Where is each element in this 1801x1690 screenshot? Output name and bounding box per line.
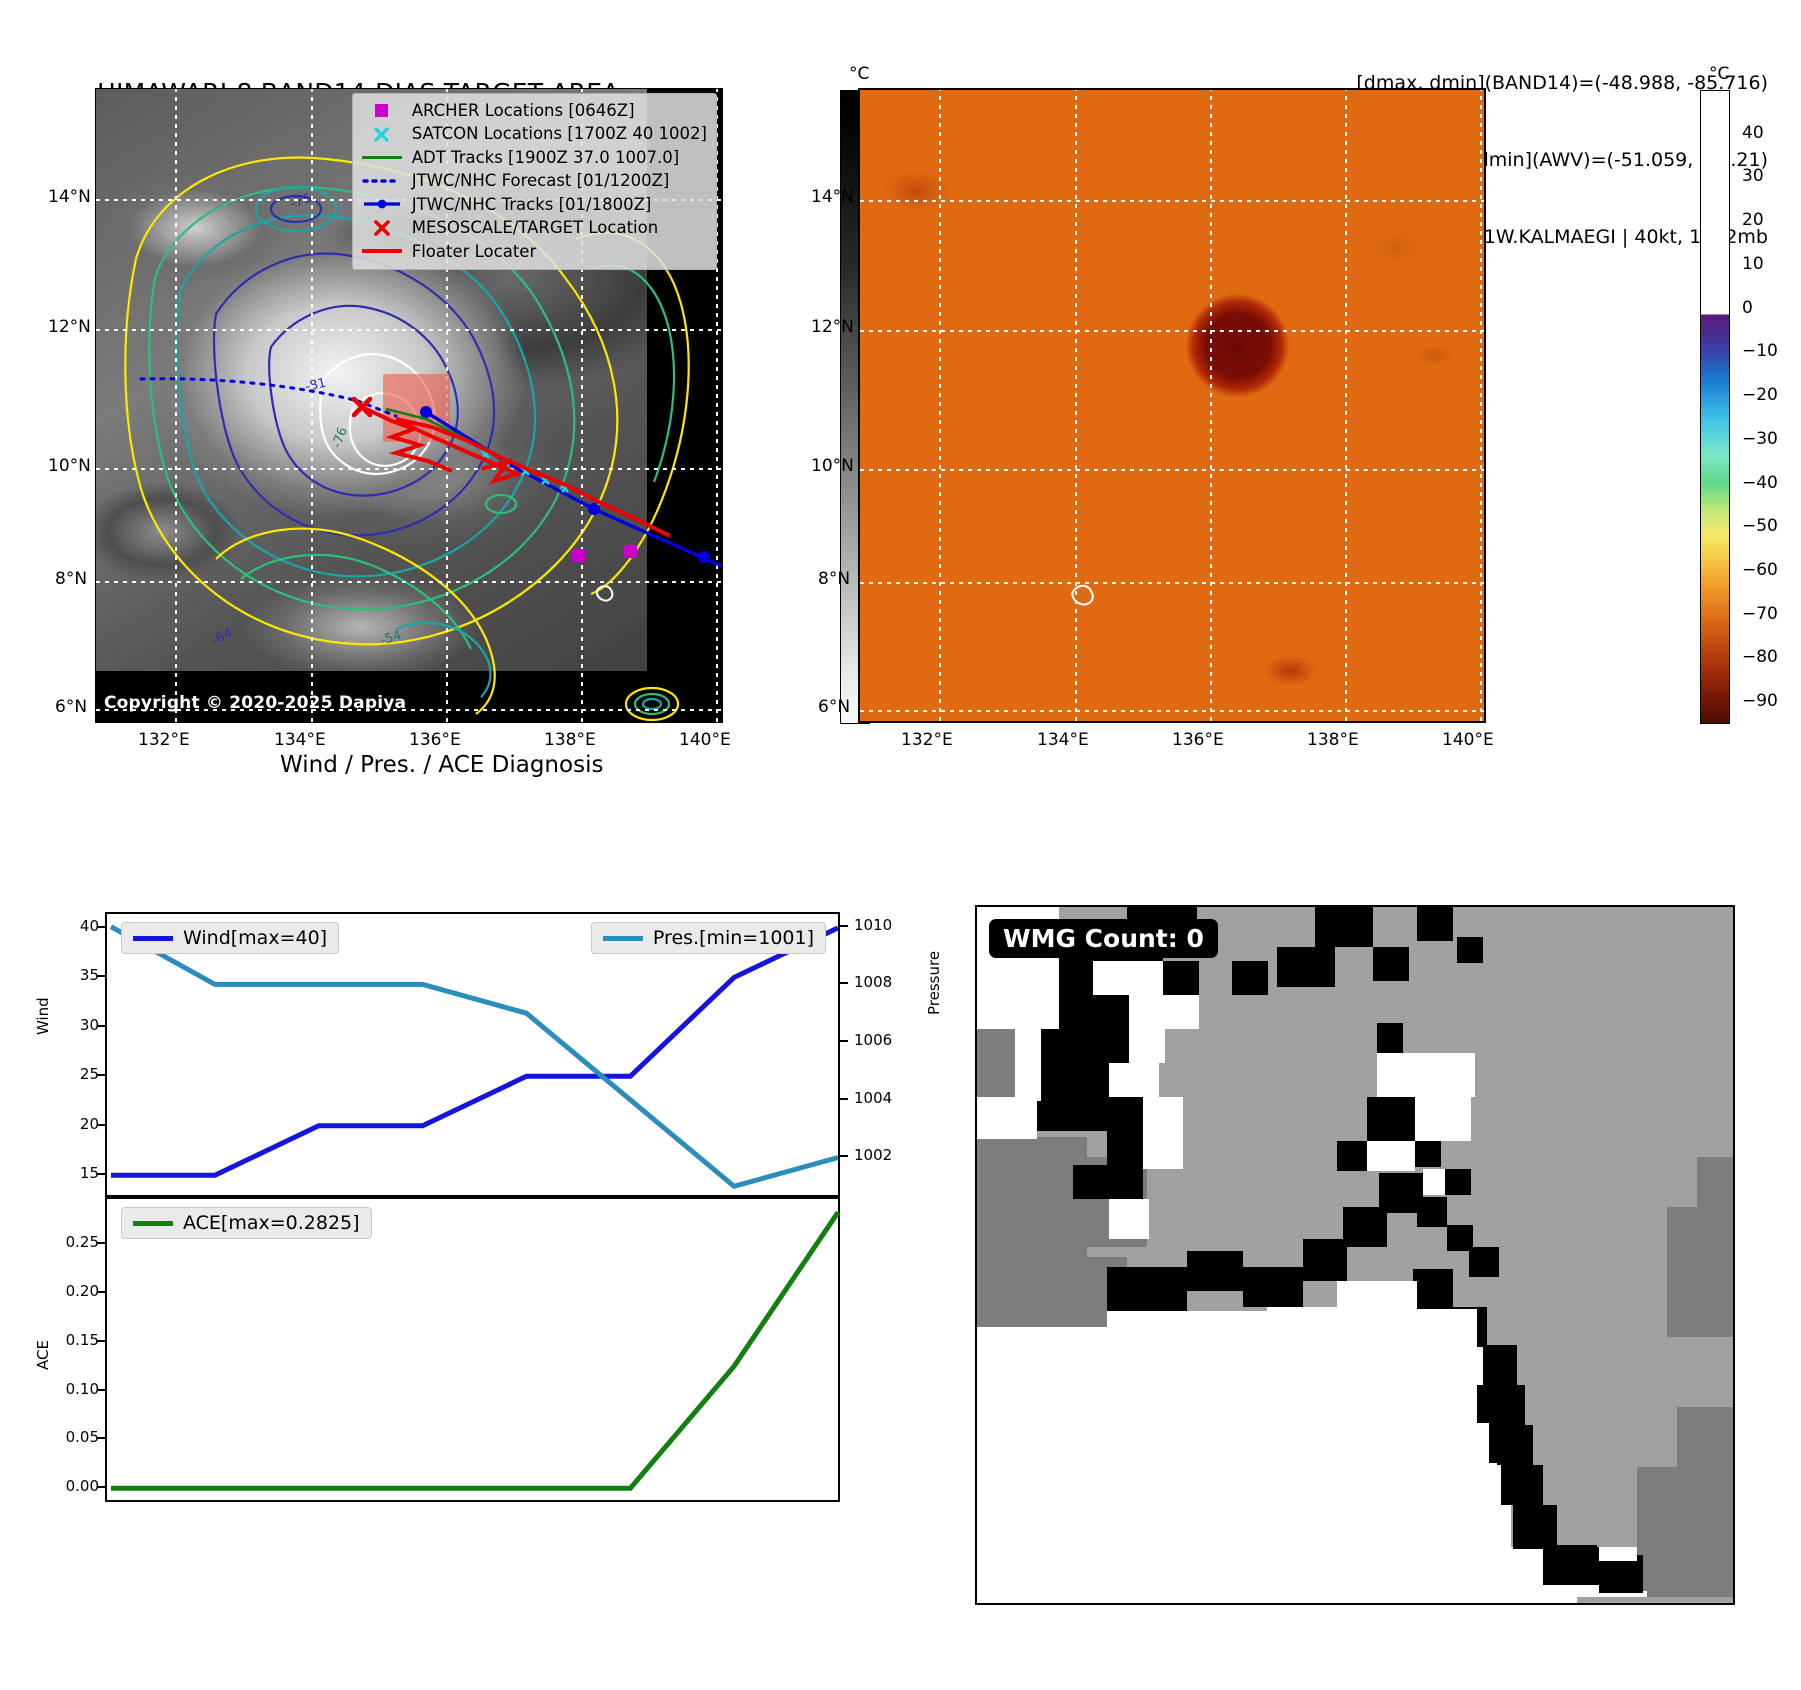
coastline-overlay	[860, 90, 1486, 723]
himawari-band14-map[interactable]: -76 -81 -64 -54 -76	[95, 88, 723, 723]
copyright-text: Copyright © 2020-2025 Dapiya	[104, 693, 406, 713]
ace-axis-tick: 0.20	[57, 1282, 99, 1300]
colorbar-tick-label: 30	[1742, 166, 1764, 186]
colorbar-tick-label: 40	[1742, 123, 1764, 143]
tick-mark	[97, 1242, 105, 1244]
ace-legend-label: ACE[max=0.2825]	[183, 1212, 360, 1234]
legend-item-jtwc-tracks[interactable]: JTWC/NHC Tracks [01/1800Z]	[360, 193, 707, 216]
pressure-axis-tick: 1008	[854, 973, 892, 991]
line-icon	[360, 148, 404, 167]
lon-tick-132E: 132°E	[901, 730, 953, 750]
ace-axis-tick: 0.00	[57, 1477, 99, 1495]
legend-label: JTWC/NHC Forecast [01/1200Z]	[412, 169, 670, 192]
tick-mark	[840, 1155, 848, 1157]
colorbar-tick-label: −20	[1742, 385, 1778, 405]
lat-tick-14N: 14°N	[48, 187, 91, 207]
colorbar-tick-label: −90	[1742, 691, 1778, 711]
ace-color-swatch	[133, 1221, 173, 1226]
colorbar-tick-label: −60	[1742, 560, 1778, 580]
lat-tick-6N: 6°N	[818, 697, 850, 717]
pressure-axis-tick: 1010	[854, 916, 892, 934]
wind-axis-tick: 30	[73, 1016, 99, 1034]
lat-tick-8N: 8°N	[818, 569, 850, 589]
lat-tick-10N: 10°N	[48, 456, 91, 476]
legend-item-archer[interactable]: ARCHER Locations [0646Z]	[360, 99, 707, 122]
lat-tick-14N: 14°N	[811, 187, 854, 207]
legend-label: MESOSCALE/TARGET Location	[412, 216, 658, 239]
colorbar-ir-unit: °C	[849, 64, 869, 84]
colorbar-tick-label: −70	[1742, 604, 1778, 624]
tick-mark	[840, 982, 848, 984]
wmg-count-badge: WMG Count: 0	[989, 919, 1218, 958]
tick-mark	[97, 975, 105, 977]
tick-mark	[97, 1124, 105, 1126]
ace-chart[interactable]: ACE[max=0.2825]	[105, 1197, 840, 1502]
pressure-axis-tick: 1002	[854, 1146, 892, 1164]
line-icon	[360, 242, 404, 261]
colorbar-tick-label: −10	[1742, 341, 1778, 361]
wind-axis-tick: 40	[73, 917, 99, 935]
wmg-cells	[977, 907, 1733, 1603]
wind-axis-tick: 15	[73, 1164, 99, 1182]
pressure-color-swatch	[603, 936, 643, 941]
wind-legend-label: Wind[max=40]	[183, 927, 327, 949]
lat-tick-10N: 10°N	[811, 456, 854, 476]
tick-mark	[97, 1291, 105, 1293]
map-legend[interactable]: ARCHER Locations [0646Z] SATCON Location…	[352, 93, 717, 270]
legend-item-adt[interactable]: ADT Tracks [1900Z 37.0 1007.0]	[360, 146, 707, 169]
tick-mark	[97, 1486, 105, 1488]
cross-icon	[360, 218, 404, 237]
pressure-axis-tick: 1006	[854, 1031, 892, 1049]
lon-tick-132E: 132°E	[138, 730, 190, 750]
colorbar-tick-label: 10	[1742, 254, 1764, 274]
tick-mark	[97, 1025, 105, 1027]
lat-tick-12N: 12°N	[48, 317, 91, 337]
ace-axis-tick: 0.10	[57, 1380, 99, 1398]
lon-tick-138E: 138°E	[544, 730, 596, 750]
colorbar-tick-label: −50	[1742, 516, 1778, 536]
tick-mark	[840, 1098, 848, 1100]
wind-axis-label: Wind	[34, 997, 52, 1035]
pressure-axis-tick: 1004	[854, 1089, 892, 1107]
colorbar-enh	[1700, 90, 1730, 724]
square-icon	[360, 101, 404, 120]
legend-label: JTWC/NHC Tracks [01/1800Z]	[412, 193, 652, 216]
ace-line	[107, 1199, 842, 1504]
legend-item-floater[interactable]: Floater Locater	[360, 240, 707, 263]
wind-axis-tick: 25	[73, 1065, 99, 1083]
wind-legend[interactable]: Wind[max=40]	[121, 922, 339, 954]
ace-axis-tick: 0.05	[57, 1428, 99, 1446]
line-with-marker-icon	[360, 195, 404, 214]
ace-axis-tick: 0.25	[57, 1233, 99, 1251]
wind-axis-tick: 20	[73, 1115, 99, 1133]
lon-tick-134E: 134°E	[274, 730, 326, 750]
colorbar-tick-label: −40	[1742, 473, 1778, 493]
tick-mark	[97, 1074, 105, 1076]
legend-label: SATCON Locations [1700Z 40 1002]	[412, 122, 707, 145]
lon-tick-136E: 136°E	[409, 730, 461, 750]
tick-mark	[840, 1040, 848, 1042]
legend-label: ARCHER Locations [0646Z]	[412, 99, 635, 122]
colorbar-tick-label: −30	[1742, 429, 1778, 449]
cross-icon	[360, 125, 404, 144]
ir-enhanced-map[interactable]	[858, 88, 1486, 723]
tick-mark	[97, 1340, 105, 1342]
wind-axis-tick: 35	[73, 966, 99, 984]
wind-pressure-lines	[107, 914, 842, 1199]
pressure-legend[interactable]: Pres.[min=1001]	[591, 922, 826, 954]
lon-tick-140E: 140°E	[679, 730, 731, 750]
wind-color-swatch	[133, 936, 173, 941]
legend-item-satcon[interactable]: SATCON Locations [1700Z 40 1002]	[360, 122, 707, 145]
ace-axis-tick: 0.15	[57, 1331, 99, 1349]
wmg-map[interactable]: WMG Count: 0	[975, 905, 1735, 1605]
tick-mark	[97, 1437, 105, 1439]
lon-tick-138E: 138°E	[1307, 730, 1359, 750]
pressure-legend-label: Pres.[min=1001]	[653, 927, 814, 949]
lon-tick-134E: 134°E	[1037, 730, 1089, 750]
lon-tick-140E: 140°E	[1442, 730, 1494, 750]
legend-label: ADT Tracks [1900Z 37.0 1007.0]	[412, 146, 679, 169]
tick-mark	[840, 925, 848, 927]
legend-item-jtwc-forecast[interactable]: JTWC/NHC Forecast [01/1200Z]	[360, 169, 707, 192]
lat-tick-6N: 6°N	[55, 697, 87, 717]
pressure-axis-label: Pressure	[925, 951, 943, 1015]
tick-mark	[97, 1389, 105, 1391]
colorbar-tick-label: 20	[1742, 210, 1764, 230]
colorbar-tick-label: 0	[1742, 298, 1753, 318]
colorbar-tick-label: −80	[1742, 647, 1778, 667]
colorbar-enh-unit: °C	[1709, 64, 1729, 84]
legend-label: Floater Locater	[412, 240, 537, 263]
legend-item-mesoscale[interactable]: MESOSCALE/TARGET Location	[360, 216, 707, 239]
dotted-line-icon	[360, 171, 404, 190]
ace-legend[interactable]: ACE[max=0.2825]	[121, 1207, 372, 1239]
wind-pressure-chart[interactable]: Wind[max=40] Pres.[min=1001]	[105, 912, 840, 1197]
tick-mark	[97, 926, 105, 928]
lat-tick-8N: 8°N	[55, 569, 87, 589]
tick-mark	[97, 1173, 105, 1175]
diagnosis-title: Wind / Pres. / ACE Diagnosis	[280, 752, 603, 778]
ace-axis-label: ACE	[34, 1340, 52, 1370]
lon-tick-136E: 136°E	[1172, 730, 1224, 750]
lat-tick-12N: 12°N	[811, 317, 854, 337]
